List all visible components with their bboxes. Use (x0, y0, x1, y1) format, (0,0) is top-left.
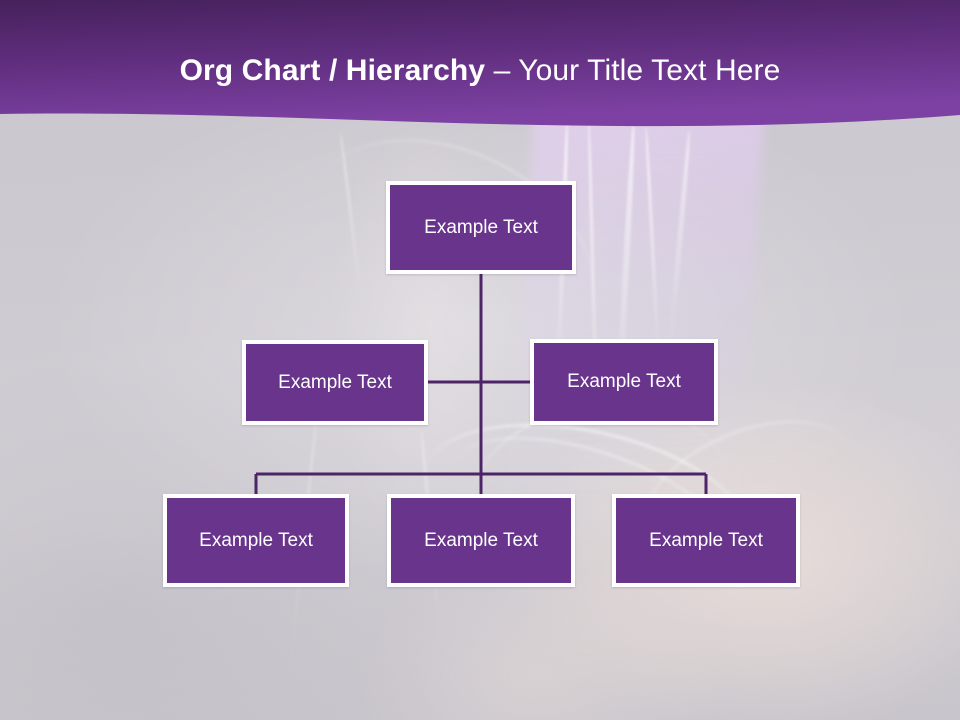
org-node-level2-left[interactable]: Example Text (242, 340, 428, 425)
org-node-label: Example Text (278, 371, 392, 395)
org-node-level3-middle[interactable]: Example Text (387, 494, 575, 587)
org-node-label: Example Text (424, 216, 538, 240)
org-node-level2-right[interactable]: Example Text (530, 339, 718, 425)
org-node-label: Example Text (649, 529, 763, 553)
org-node-level3-left[interactable]: Example Text (163, 494, 349, 587)
org-node-label: Example Text (424, 529, 538, 553)
org-node-level1-1[interactable]: Example Text (386, 181, 576, 274)
org-node-label: Example Text (199, 529, 313, 553)
org-node-label: Example Text (567, 370, 681, 394)
connector-lines (0, 0, 960, 720)
slide-canvas: Org Chart / Hierarchy – Your Title Text … (0, 0, 960, 720)
org-chart: Example Text Example Text Example Text E… (0, 0, 960, 720)
org-node-level3-right[interactable]: Example Text (612, 494, 800, 587)
